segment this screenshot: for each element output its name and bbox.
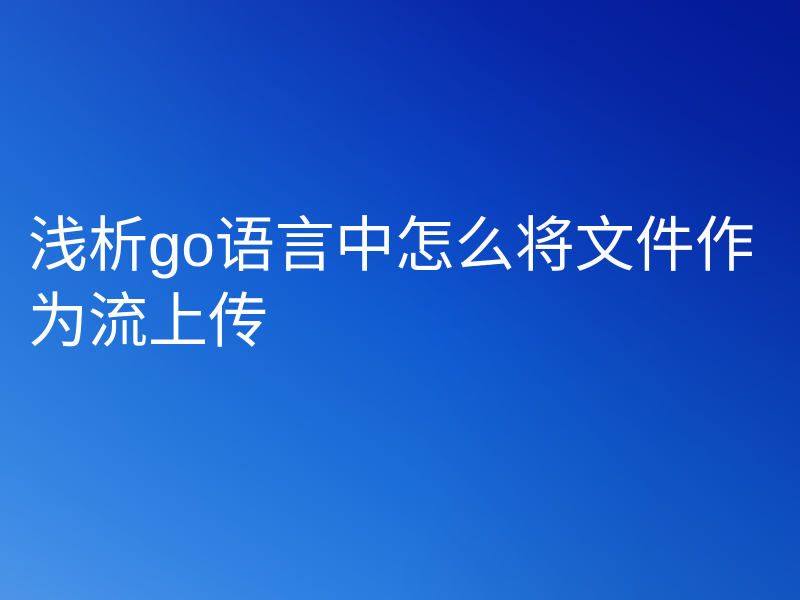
- cover-card: 浅析go语言中怎么将文件作为流上传: [0, 0, 800, 600]
- page-title: 浅析go语言中怎么将文件作为流上传: [28, 208, 780, 360]
- title-block: 浅析go语言中怎么将文件作为流上传: [28, 208, 780, 360]
